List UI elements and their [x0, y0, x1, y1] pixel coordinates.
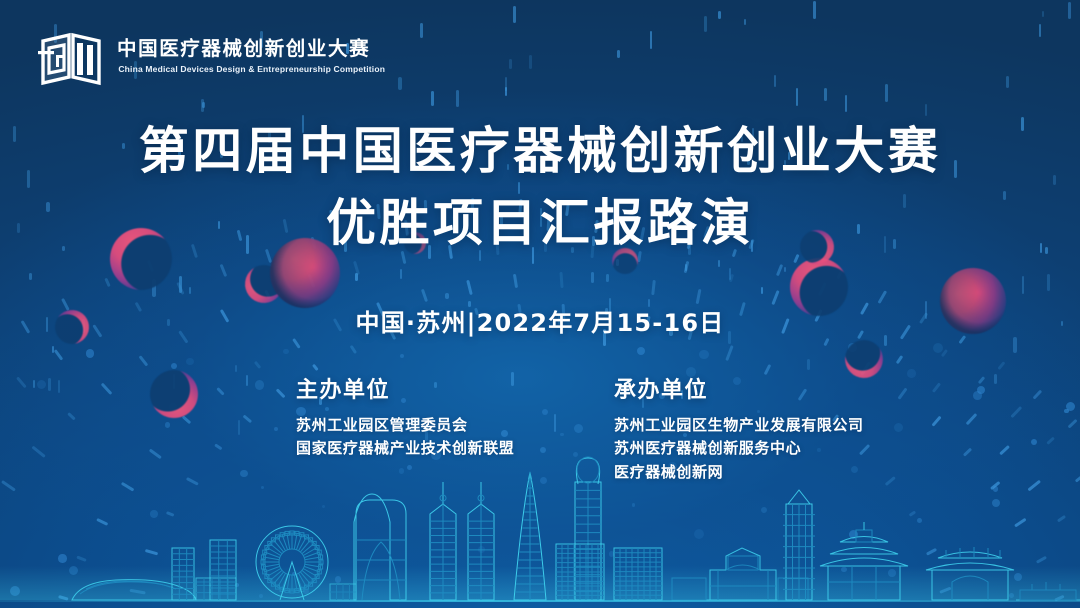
headline-block: 第四届中国医疗器械创新创业大赛 优胜项目汇报路演 — [0, 122, 1080, 254]
logo-text-block: 中国医疗器械创新创业大赛 China Medical Devices Desig… — [117, 38, 386, 75]
event-date-location: 中国·苏州|2022年7月15-16日 — [0, 303, 1080, 338]
open-door-logo-icon — [36, 26, 106, 86]
logo-title-en: China Medical Devices Design & Entrepren… — [118, 64, 385, 74]
organizer-item: 苏州工业园区管理委员会 — [296, 414, 614, 437]
decorative-orb — [141, 361, 207, 427]
event-logo: 中国医疗器械创新创业大赛 China Medical Devices Desig… — [36, 26, 386, 86]
main-title-line-1: 第四届中国医疗器械创新创业大赛 — [0, 122, 1080, 181]
organizer-heading: 承办单位 — [614, 372, 932, 404]
poster-canvas: 中国医疗器械创新创业大赛 China Medical Devices Desig… — [0, 0, 1080, 608]
city-skyline-illustration — [0, 448, 1080, 608]
logo-title-cn: 中国医疗器械创新创业大赛 — [117, 38, 386, 60]
organizer-heading: 主办单位 — [296, 372, 614, 404]
organizer-item: 苏州工业园区生物产业发展有限公司 — [614, 414, 932, 437]
main-title-line-2: 优胜项目汇报路演 — [0, 193, 1080, 254]
